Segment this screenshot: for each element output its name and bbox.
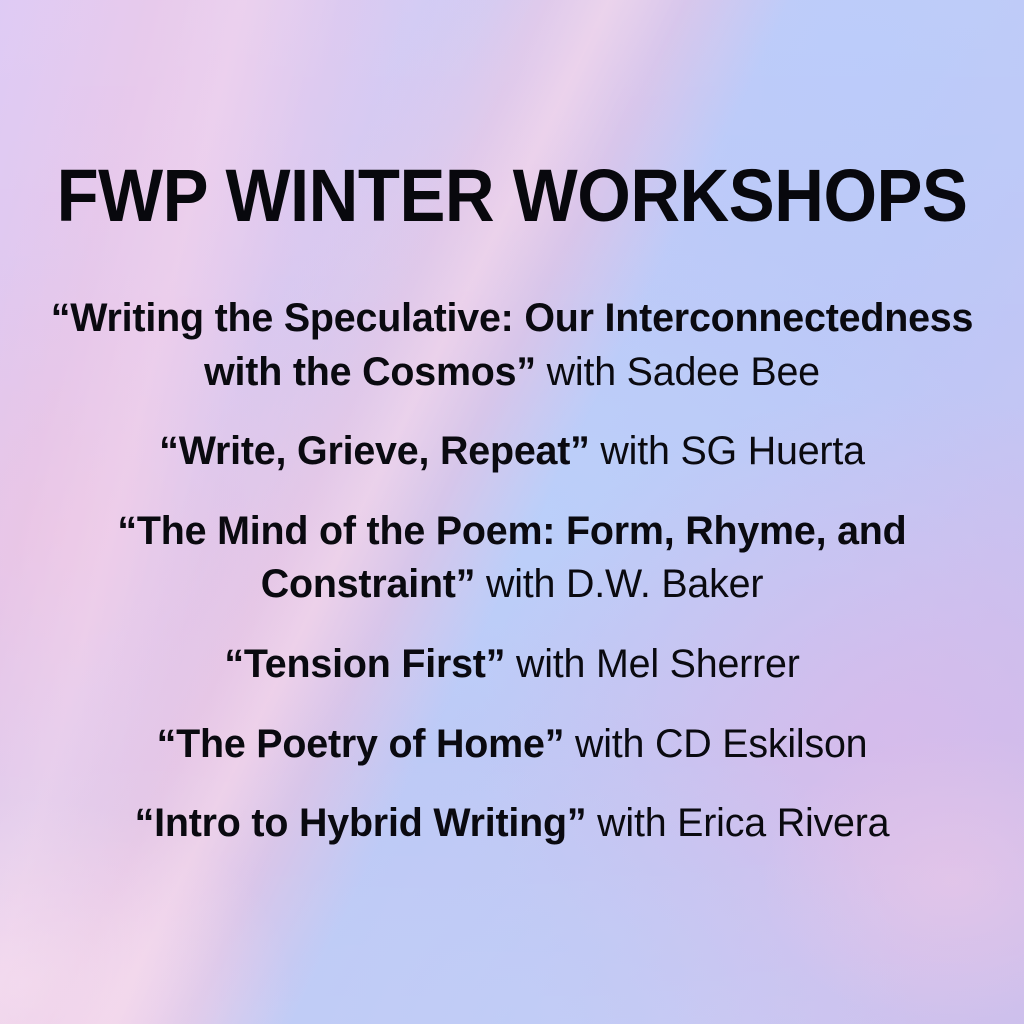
list-item: “The Mind of the Poem: Form, Rhyme, and … <box>16 505 1009 612</box>
workshop-title: “Intro to Hybrid Writing” <box>135 801 587 845</box>
list-item: “Write, Grieve, Repeat” with SG Huerta <box>16 425 1009 479</box>
workshop-title: “Write, Grieve, Repeat” <box>159 429 589 473</box>
workshop-title: “The Poetry of Home” <box>157 722 565 766</box>
list-item: “Intro to Hybrid Writing” with Erica Riv… <box>16 797 1009 851</box>
poster-content: FWP WINTER WORKSHOPS “Writing the Specul… <box>0 0 1024 1024</box>
page-title: FWP WINTER WORKSHOPS <box>36 159 988 233</box>
list-item: “Writing the Speculative: Our Interconne… <box>16 292 1009 399</box>
workshop-instructor: with D.W. Baker <box>475 562 763 606</box>
list-item: “The Poetry of Home” with CD Eskilson <box>16 718 1009 772</box>
list-item: “Tension First” with Mel Sherrer <box>16 638 1009 692</box>
workshop-instructor: with Erica Rivera <box>586 801 889 845</box>
workshop-title: “Writing the Speculative: Our Interconne… <box>51 296 973 394</box>
workshop-title: “Tension First” <box>224 642 505 686</box>
workshop-instructor: with CD Eskilson <box>564 722 867 766</box>
workshop-list: “Writing the Speculative: Our Interconne… <box>0 292 1024 851</box>
workshop-instructor: with Sadee Bee <box>536 350 820 394</box>
workshop-instructor: with SG Huerta <box>590 429 865 473</box>
workshop-announcement-poster: FWP WINTER WORKSHOPS “Writing the Specul… <box>0 0 1024 1024</box>
workshop-instructor: with Mel Sherrer <box>505 642 799 686</box>
